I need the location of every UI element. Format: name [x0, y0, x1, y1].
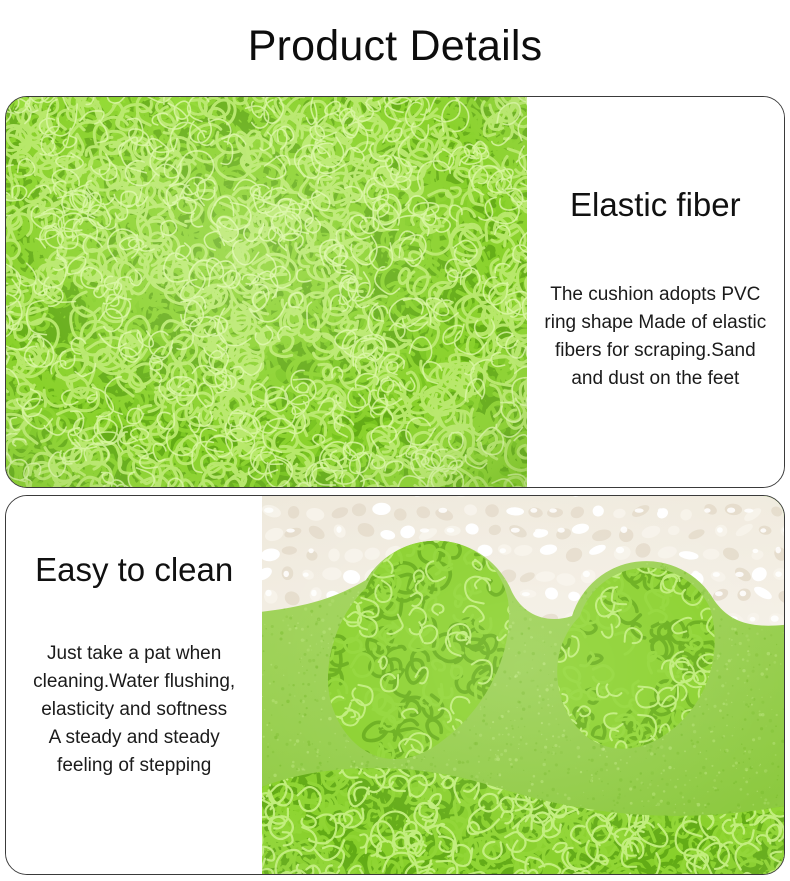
- elastic-fiber-photo: [6, 97, 527, 487]
- easy-to-clean-text-column: Easy to clean Just take a pat when clean…: [6, 496, 262, 874]
- panel-body-easy-to-clean: Just take a pat when cleaning.Water flus…: [27, 640, 241, 780]
- panel-easy-to-clean: Easy to clean Just take a pat when clean…: [5, 495, 785, 875]
- panel-heading-easy-to-clean: Easy to clean: [35, 550, 233, 590]
- easy-to-clean-photo: [262, 496, 784, 874]
- panel-elastic-fiber: Elastic fiber The cushion adopts PVC rin…: [5, 96, 785, 488]
- panel-heading-elastic-fiber: Elastic fiber: [570, 185, 741, 225]
- page-title: Product Details: [0, 18, 790, 74]
- product-details-page: Product Details: [0, 0, 790, 881]
- panel-body-elastic-fiber: The cushion adopts PVC ring shape Made o…: [536, 281, 774, 393]
- elastic-fiber-text-column: Elastic fiber The cushion adopts PVC rin…: [527, 97, 784, 487]
